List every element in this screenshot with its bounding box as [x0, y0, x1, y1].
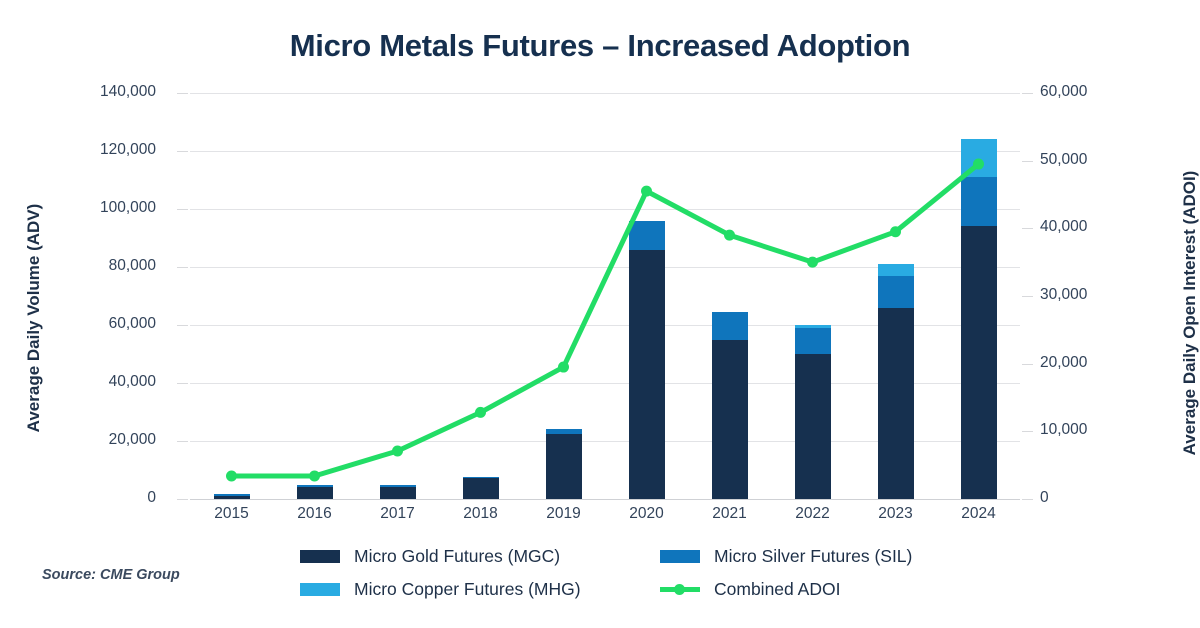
x-axis-tick-label: 2017	[358, 505, 438, 523]
y-axis-left-tick-label: 140,000	[6, 83, 156, 101]
y-axis-right-tick-mark	[1022, 431, 1033, 432]
legend-color-swatch-icon	[300, 550, 340, 563]
legend-item-label: Micro Silver Futures (SIL)	[714, 546, 912, 567]
chart-container: Micro Metals Futures – Increased Adoptio…	[0, 0, 1200, 628]
chart-title: Micro Metals Futures – Increased Adoptio…	[0, 28, 1200, 64]
y-axis-left-tick-mark	[177, 267, 188, 268]
legend-item-label: Combined ADOI	[714, 579, 840, 600]
y-axis-left-tick-mark	[177, 209, 188, 210]
adoi-data-point[interactable]	[475, 407, 486, 418]
y-axis-left-tick-mark	[177, 151, 188, 152]
legend-item[interactable]: Micro Gold Futures (MGC)	[300, 540, 660, 573]
y-axis-left-tick-label: 120,000	[6, 141, 156, 159]
legend-color-swatch-icon	[660, 550, 700, 563]
y-axis-right-tick-label: 20,000	[1040, 354, 1190, 372]
x-axis-tick-label: 2019	[524, 505, 604, 523]
adoi-data-point[interactable]	[641, 186, 652, 197]
legend-item[interactable]: Micro Silver Futures (SIL)	[660, 540, 1020, 573]
adoi-data-point[interactable]	[558, 362, 569, 373]
y-axis-right-tick-mark	[1022, 364, 1033, 365]
y-axis-left-tick-label: 60,000	[6, 315, 156, 333]
gridline	[190, 499, 1020, 500]
adoi-data-point[interactable]	[890, 226, 901, 237]
adoi-line-path	[232, 164, 979, 476]
y-axis-right-tick-mark	[1022, 296, 1033, 297]
y-axis-left-tick-label: 80,000	[6, 257, 156, 275]
legend-item[interactable]: Micro Copper Futures (MHG)	[300, 573, 660, 606]
y-axis-right-tick-mark	[1022, 161, 1033, 162]
y-axis-left-tick-mark	[177, 325, 188, 326]
x-axis-tick-label: 2015	[192, 505, 272, 523]
adoi-data-point[interactable]	[226, 470, 237, 481]
y-axis-right-tick-label: 30,000	[1040, 286, 1190, 304]
y-axis-left-tick-label: 100,000	[6, 199, 156, 217]
x-axis-tick-label: 2021	[690, 505, 770, 523]
y-axis-left-tick-mark	[177, 93, 188, 94]
y-axis-left-tick-label: 0	[6, 489, 156, 507]
y-axis-right-tick-label: 50,000	[1040, 151, 1190, 169]
source-note: Source: CME Group	[42, 567, 180, 583]
y-axis-right-tick-mark	[1022, 93, 1033, 94]
y-axis-right-tick-label: 40,000	[1040, 218, 1190, 236]
adoi-data-point[interactable]	[309, 470, 320, 481]
adoi-data-point[interactable]	[807, 257, 818, 268]
plot-area	[190, 93, 1020, 499]
adoi-data-point[interactable]	[392, 445, 403, 456]
legend-line-marker-icon	[660, 583, 700, 596]
y-axis-right-tick-mark	[1022, 499, 1033, 500]
adoi-data-point[interactable]	[724, 230, 735, 241]
chart-legend: Micro Gold Futures (MGC)Micro Silver Fut…	[300, 540, 1020, 606]
x-axis-tick-label: 2024	[939, 505, 1019, 523]
y-axis-right-tick-label: 60,000	[1040, 83, 1190, 101]
legend-color-swatch-icon	[300, 583, 340, 596]
adoi-line-series	[190, 93, 1020, 499]
x-axis-tick-label: 2020	[607, 505, 687, 523]
y-axis-right-tick-label: 0	[1040, 489, 1190, 507]
x-axis-tick-label: 2022	[773, 505, 853, 523]
y-axis-left-tick-mark	[177, 441, 188, 442]
x-axis-tick-label: 2018	[441, 505, 521, 523]
y-axis-left-tick-mark	[177, 383, 188, 384]
y-axis-left-tick-mark	[177, 499, 188, 500]
y-axis-left-tick-label: 40,000	[6, 373, 156, 391]
x-axis-tick-label: 2016	[275, 505, 355, 523]
x-axis-tick-label: 2023	[856, 505, 936, 523]
y-axis-left-tick-label: 20,000	[6, 431, 156, 449]
adoi-data-point[interactable]	[973, 159, 984, 170]
y-axis-right-tick-label: 10,000	[1040, 421, 1190, 439]
legend-item[interactable]: Combined ADOI	[660, 573, 1020, 606]
y-axis-right-tick-mark	[1022, 228, 1033, 229]
legend-item-label: Micro Gold Futures (MGC)	[354, 546, 560, 567]
legend-item-label: Micro Copper Futures (MHG)	[354, 579, 581, 600]
